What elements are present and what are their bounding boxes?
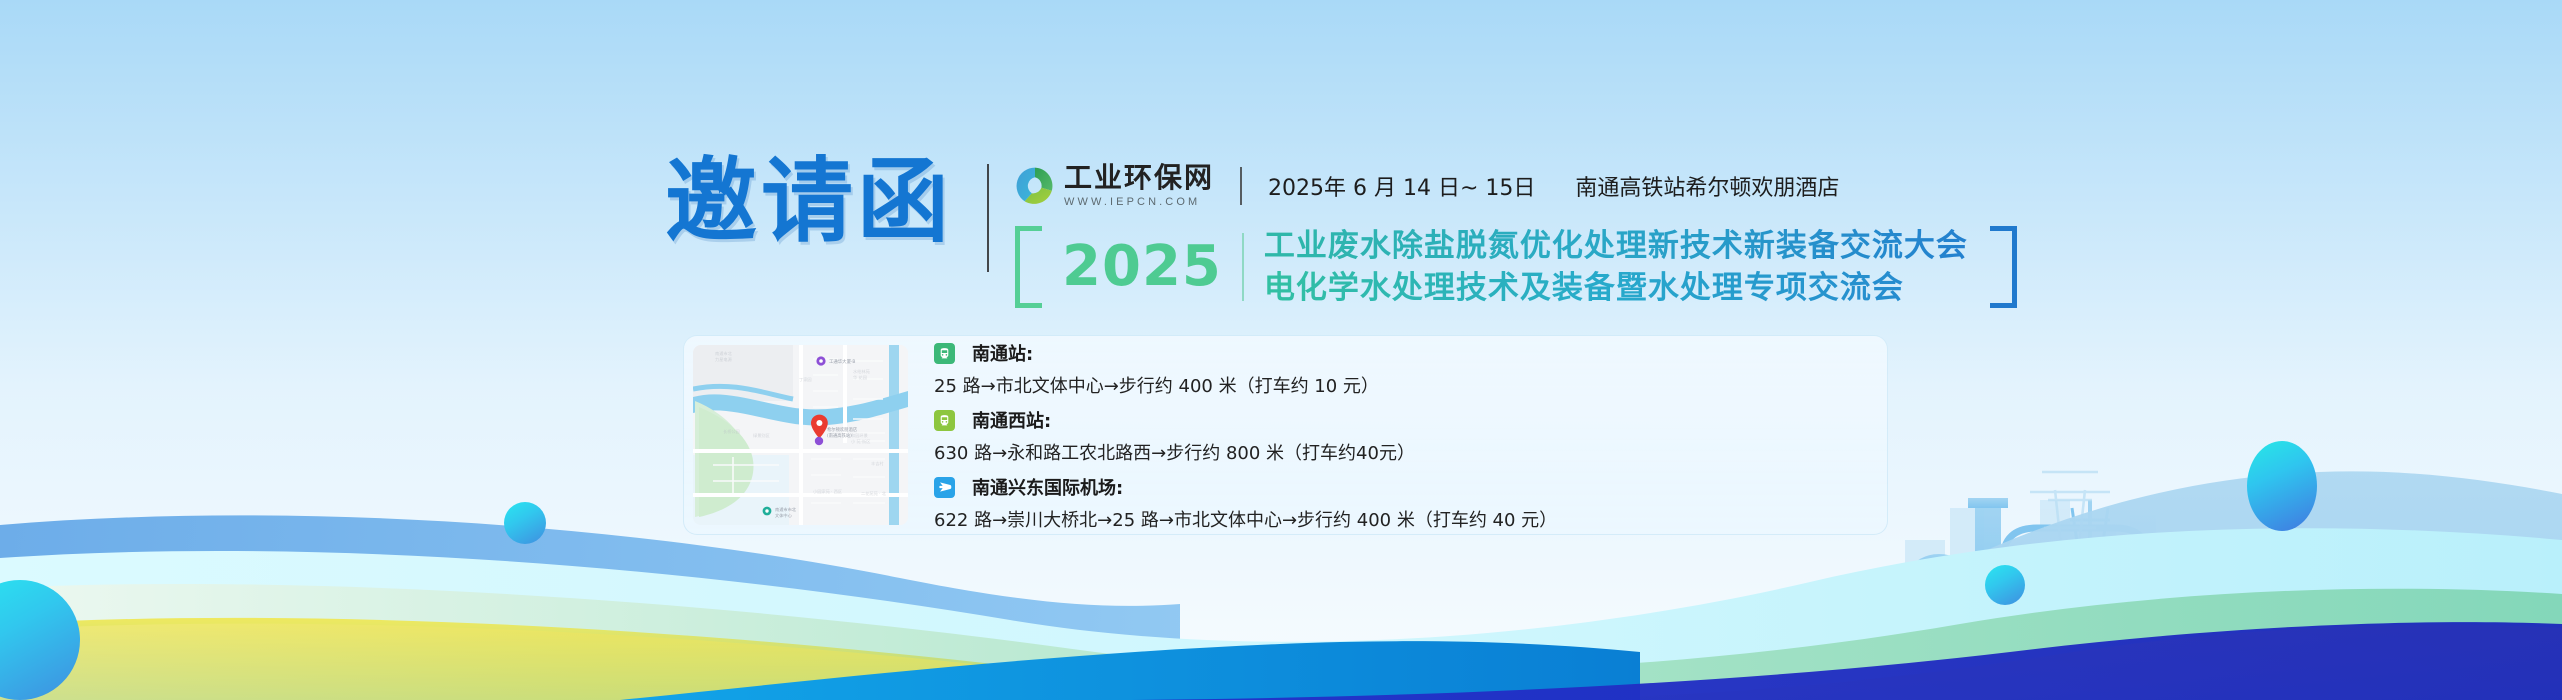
svg-text:二花苑苑 · 北: 二花苑苑 · 北 (861, 490, 887, 497)
svg-text:绿景别区: 绿景别区 (753, 432, 770, 439)
event-venue: 南通高铁站希尔顿欢朋酒店 (1575, 170, 1839, 202)
svg-text:丰吉村: 丰吉村 (871, 460, 884, 467)
meta-divider (1240, 167, 1242, 205)
train-icon (934, 410, 955, 431)
svg-text:工通华大厦·B: 工通华大厦·B (829, 358, 855, 365)
gradient-sphere-right (2247, 441, 2317, 531)
organizer-logo: 工业环保网 WWW.IEPCN.COM (1015, 163, 1214, 209)
svg-text:南通市北: 南通市北 (715, 350, 733, 357)
wave-navy (1120, 622, 2562, 700)
bracket-left-icon (1015, 226, 1042, 308)
gradient-sphere-small-right (1985, 565, 2025, 605)
svg-text:(南通高铁站): (南通高铁站) (827, 432, 852, 439)
svg-text:长桥公园: 长桥公园 (723, 428, 740, 435)
wave-bottom-blue (620, 641, 1640, 700)
event-date: 2025年 6 月 14 日~ 15日 (1268, 170, 1535, 202)
transit-route: 622 路→崇川大桥北→25 路→市北文体中心→步行约 400 米（打车约 40… (934, 506, 1557, 532)
year-badge: 2025 (1062, 238, 1222, 296)
organizer-name: 工业环保网 (1064, 163, 1214, 193)
gradient-sphere-small-left (504, 502, 546, 544)
svg-text:小园家苑 · 西区: 小园家苑 · 西区 (813, 488, 842, 495)
svg-text:和园环景: 和园环景 (851, 432, 868, 439)
svg-text:丁家园: 丁家园 (799, 376, 812, 383)
invitation-banner: 邀请函 (0, 0, 2562, 700)
svg-text:华 花园: 华 花园 (853, 374, 867, 381)
conference-title-line-1: 工业废水除盐脱氮优化处理新技术新装备交流大会 (1264, 228, 1968, 265)
svg-text:水绘林苑: 水绘林苑 (853, 368, 871, 375)
conference-divider (1242, 233, 1244, 301)
circular-ring-logo-icon (1015, 166, 1055, 206)
transit-route: 630 路→永和路工农北路西→步行约 800 米（打车约40元） (934, 439, 1557, 465)
transit-station-name: 南通兴东国际机场: (972, 474, 1123, 500)
transit-item: 南通西站: 630 路→永和路工农北路西→步行约 800 米（打车约40元） (934, 407, 1557, 465)
map-graphic: 南通市北力星电源 长桥公园绿景别区 水绘林苑华 花园 和园环景小 苑·街区 丰吉… (693, 345, 908, 525)
page-title: 邀请函 (665, 150, 953, 254)
conference-title-row: 2025 工业废水除盐脱氮优化处理新技术新装备交流大会 电化学水处理技术及装备暨… (1015, 226, 2017, 308)
conference-title-line-2: 电化学水处理技术及装备暨水处理专项交流会 (1264, 270, 1968, 307)
wave-yellow (0, 624, 1300, 700)
transit-route: 25 路→市北文体中心→步行约 400 米（打车约 10 元） (934, 372, 1557, 398)
transit-station-name: 南通西站: (972, 407, 1051, 433)
transit-station-name: 南通站: (972, 340, 1033, 366)
bracket-right-icon (1990, 226, 2017, 308)
header-meta-row: 工业环保网 WWW.IEPCN.COM 2025年 6 月 14 日~ 15日 … (1015, 158, 2017, 214)
transit-item: 南通站: 25 路→市北文体中心→步行约 400 米（打车约 10 元） (934, 340, 1557, 398)
city-skyline-far (1905, 500, 2204, 620)
train-icon (934, 343, 955, 364)
header-divider (987, 164, 989, 272)
wave-mint (0, 584, 2562, 700)
industrial-plant-silhouette (1850, 472, 2236, 645)
wave-cyan-pale (0, 528, 2562, 700)
venue-info-card: 南通市北力星电源 长桥公园绿景别区 水绘林苑华 花园 和园环景小 苑·街区 丰吉… (683, 335, 1888, 535)
organizer-website: WWW.IEPCN.COM (1064, 195, 1214, 209)
svg-text:力星电源: 力星电源 (715, 356, 733, 363)
svg-text:希尔顿欢朋酒店: 希尔顿欢朋酒店 (827, 426, 858, 433)
transit-item: 南通兴东国际机场: 622 路→崇川大桥北→25 路→市北文体中心→步行约 40… (934, 474, 1557, 532)
header-right-column: 工业环保网 WWW.IEPCN.COM 2025年 6 月 14 日~ 15日 … (1015, 150, 2017, 308)
transit-list: 南通站: 25 路→市北文体中心→步行约 400 米（打车约 10 元） 南通西… (934, 338, 1557, 532)
airplane-icon (934, 477, 955, 498)
svg-text:南通市市北: 南通市市北 (775, 506, 797, 513)
wave-deep-green (1830, 558, 2562, 700)
gradient-sphere-left (0, 580, 80, 700)
wave-blue-left (0, 515, 1180, 700)
svg-text:小 苑·街区: 小 苑·街区 (851, 438, 870, 445)
banner-header: 邀请函 (665, 150, 2017, 308)
svg-text:文体中心: 文体中心 (775, 512, 793, 519)
venue-location-map[interactable]: 南通市北力星电源 长桥公园绿景别区 水绘林苑华 花园 和园环景小 苑·街区 丰吉… (693, 345, 908, 525)
wave-yellow-green (0, 618, 2562, 700)
